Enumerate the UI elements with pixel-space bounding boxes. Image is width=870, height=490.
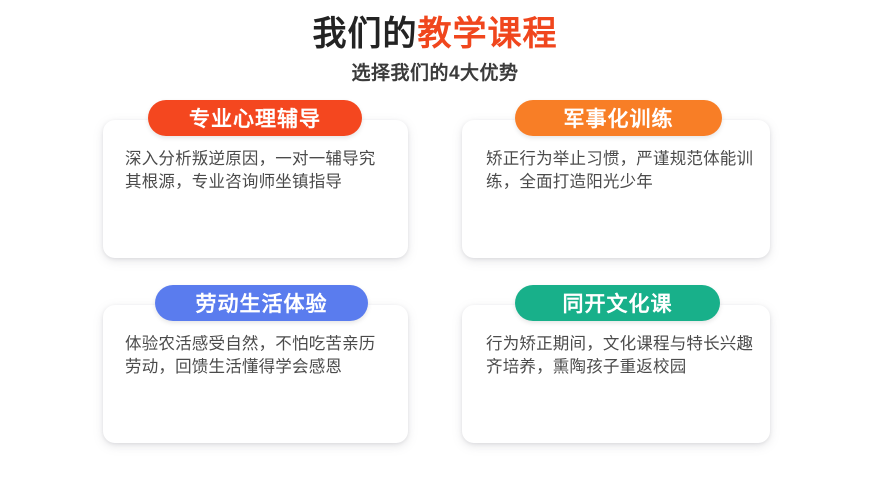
feature-body-2-text: 矫正行为举止习惯，严谨规范体能训练，全面打造阳光少年 xyxy=(486,148,754,194)
feature-body-1: 深入分析叛逆原因，一对一辅导究其根源，专业咨询师坐镇指导 xyxy=(125,148,389,194)
page-title-prefix: 我们的 xyxy=(313,15,418,53)
feature-body-1-text: 深入分析叛逆原因，一对一辅导究其根源，专业咨询师坐镇指导 xyxy=(125,148,389,194)
feature-body-2: 矫正行为举止习惯，严谨规范体能训练，全面打造阳光少年 xyxy=(486,148,754,194)
header: 我们的教学课程 选择我们的4大优势 xyxy=(0,14,870,86)
feature-badge-2: 军事化训练 xyxy=(515,100,722,136)
feature-badge-4: 同开文化课 xyxy=(515,285,720,321)
page-title-accent: 教学课程 xyxy=(418,15,558,53)
feature-badge-1: 专业心理辅导 xyxy=(148,100,362,136)
feature-body-3-text: 体验农活感受自然，不怕吃苦亲历劳动，回馈生活懂得学会感恩 xyxy=(125,333,389,379)
slide-canvas: 我们的教学课程 选择我们的4大优势 专业心理辅导 深入分析叛逆原因，一对一辅导究… xyxy=(0,0,870,490)
page-title: 我们的教学课程 xyxy=(0,14,870,54)
feature-badge-3: 劳动生活体验 xyxy=(155,285,368,321)
page-subtitle: 选择我们的4大优势 xyxy=(0,62,870,86)
feature-body-3: 体验农活感受自然，不怕吃苦亲历劳动，回馈生活懂得学会感恩 xyxy=(125,333,389,379)
feature-body-4: 行为矫正期间，文化课程与特长兴趣齐培养，熏陶孩子重返校园 xyxy=(486,333,754,379)
feature-body-4-text: 行为矫正期间，文化课程与特长兴趣齐培养，熏陶孩子重返校园 xyxy=(486,333,754,379)
